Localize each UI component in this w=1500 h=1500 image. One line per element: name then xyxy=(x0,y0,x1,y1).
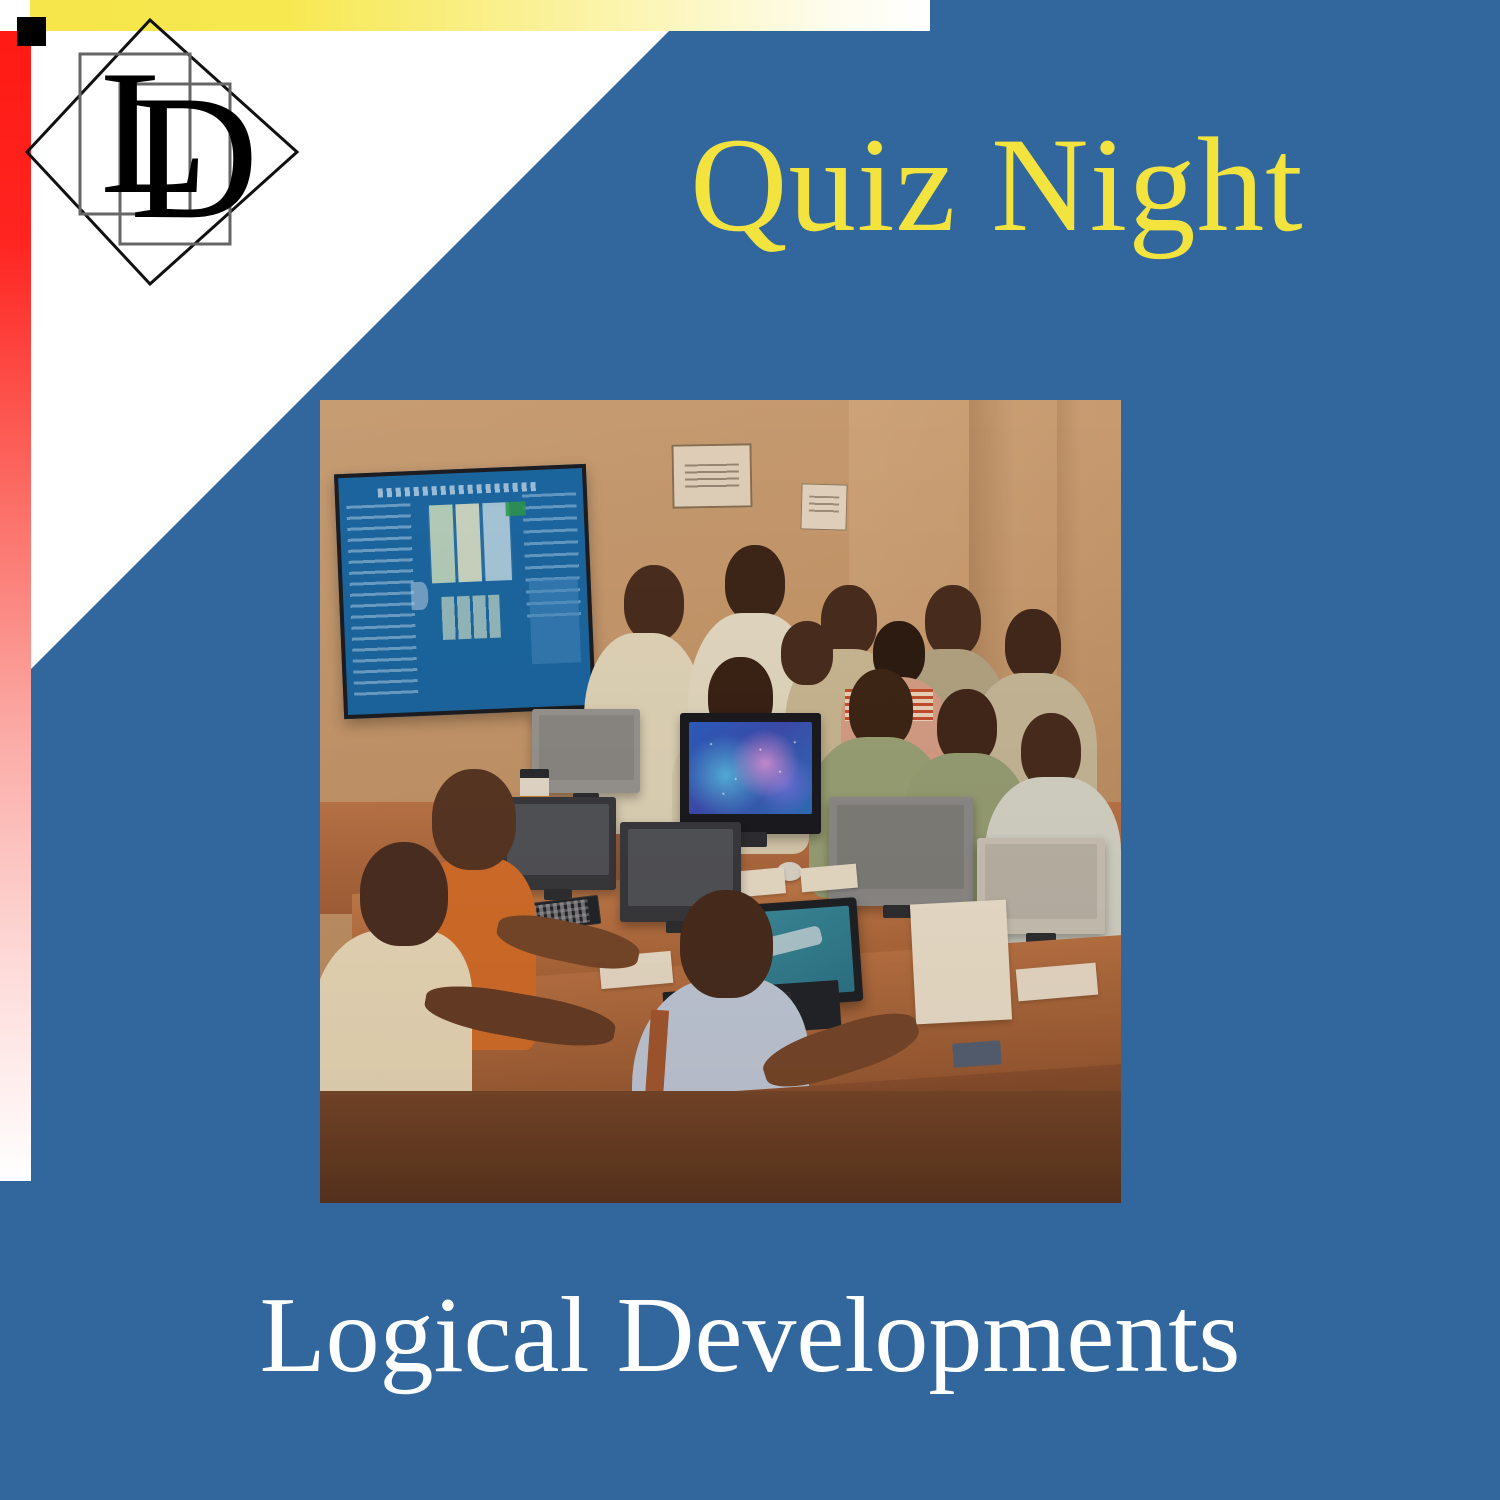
event-photo xyxy=(320,400,1121,1203)
photo-colour-grade xyxy=(320,400,1121,1203)
poster-canvas: L D Quiz Night xyxy=(0,0,1500,1500)
brand-caption: Logical Developments xyxy=(0,1282,1500,1390)
logo-letter-d: D xyxy=(130,58,259,256)
page-title: Quiz Night xyxy=(690,118,1304,253)
brand-logo: L D xyxy=(22,12,312,302)
photo-scene xyxy=(320,400,1121,1203)
